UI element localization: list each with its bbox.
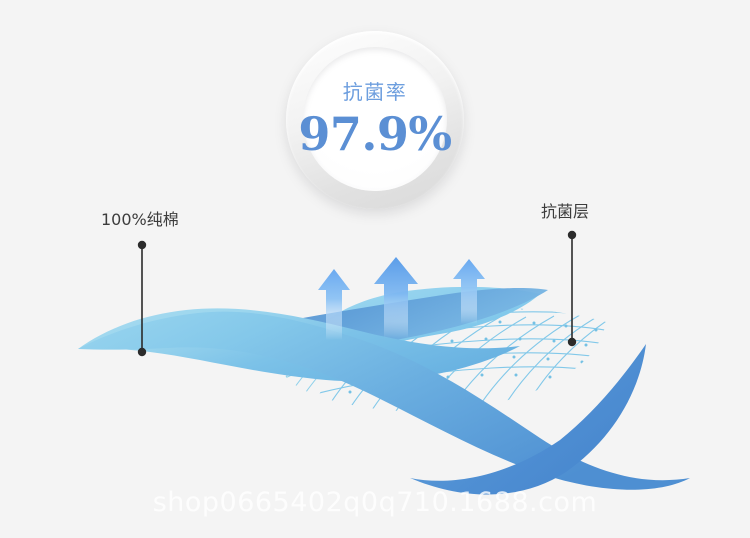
gauge-value: 97.9%	[298, 111, 451, 157]
gauge-label: 抗菌率	[343, 82, 408, 102]
leader-dot-right-bottom	[568, 338, 576, 346]
callout-label-antibacterial-layer: 抗菌层	[541, 204, 589, 220]
gauge-dial-face: 抗菌率 97.9%	[303, 47, 447, 191]
antibacterial-rate-gauge: 抗菌率 97.9%	[286, 31, 464, 209]
callout-label-cotton: 100%纯棉	[101, 212, 179, 228]
leader-dot-left-top	[138, 241, 146, 249]
poster-canvas: 抗菌率 97.9% 100%纯棉 抗菌层 shop0665402q0q710.1…	[0, 0, 750, 538]
leader-dot-right-top	[568, 231, 576, 239]
leader-dot-left-bottom	[138, 348, 146, 356]
